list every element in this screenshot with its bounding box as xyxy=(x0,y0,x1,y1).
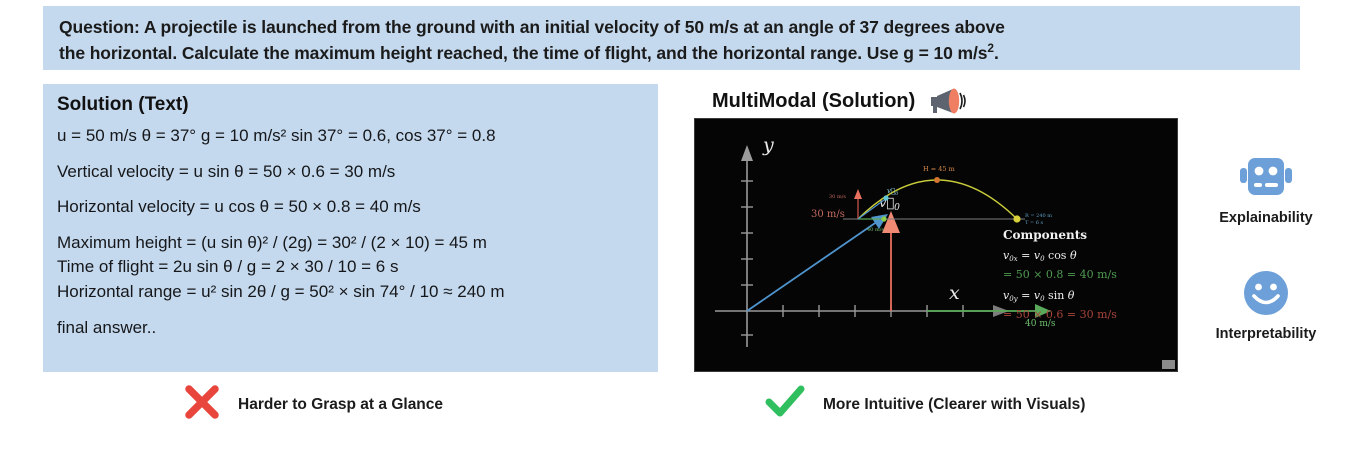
feature-interpretability: Interpretability xyxy=(1186,268,1346,342)
solution-line-horizontal-range: Horizontal range = u² sin 2θ / g = 50² ×… xyxy=(57,281,644,304)
components-vy-value: = 50 × 0.6 = 30 m/s xyxy=(1003,308,1117,321)
video-progress-handle[interactable] xyxy=(1162,360,1175,369)
speaker-megaphone-icon[interactable] xyxy=(929,86,967,116)
y-axis-label: y xyxy=(762,134,774,156)
cross-mark-icon xyxy=(182,382,222,427)
components-vy-expression: v0y = v0 sin θ xyxy=(1003,289,1075,303)
projectile-vector-diagram: y x 40 m/s 30 m/s v⃗0 H = 45 m xyxy=(695,119,1177,371)
components-vx-expression: v0x = v0 cos θ xyxy=(1003,249,1077,263)
question-line-2: the horizontal. Calculate the maximum he… xyxy=(59,43,987,63)
caption-text: More Intuitive (Clearer with Visuals) xyxy=(823,396,1085,414)
multimodal-video-panel[interactable]: y x 40 m/s 30 m/s v⃗0 H = 45 m xyxy=(694,118,1178,372)
vertical-component-label: 30 m/s xyxy=(811,209,845,220)
question-banner: Question: A projectile is launched from … xyxy=(43,6,1300,70)
smiley-face-icon xyxy=(1186,268,1346,318)
solution-line-time-of-flight: Time of flight = 2u sin θ / g = 2 × 30 /… xyxy=(57,256,644,279)
components-box-title: Components xyxy=(1003,228,1087,242)
multimodal-header: MultiModal (Solution) xyxy=(712,86,967,116)
trajectory-inset: H = 45 m R = 240 m T = 6 s 30 m/s 40 m/s… xyxy=(829,165,1052,233)
inset-apex-label: H = 45 m xyxy=(923,165,955,173)
feature-explainability: Explainability xyxy=(1186,152,1346,226)
solution-line-vertical-velocity: Vertical velocity = u sin θ = 50 × 0.6 =… xyxy=(57,161,644,184)
question-text: Question: A projectile is launched from … xyxy=(59,15,1284,67)
solution-line-maximum-height: Maximum height = (u sin θ)² / (2g) = 30²… xyxy=(57,232,644,255)
solution-line-horizontal-velocity: Horizontal velocity = u cos θ = 50 × 0.8… xyxy=(57,196,644,219)
feature-label: Explainability xyxy=(1186,210,1346,226)
question-line-1: Question: A projectile is launched from … xyxy=(59,17,1005,37)
inset-horizontal-component-label: 40 m/s xyxy=(867,227,884,233)
feature-label: Interpretability xyxy=(1186,326,1346,342)
multimodal-title: MultiModal (Solution) xyxy=(712,90,915,113)
x-axis-label: x xyxy=(949,282,960,304)
caption-more-intuitive: More Intuitive (Clearer with Visuals) xyxy=(763,382,1085,427)
solution-line-final-answer: final answer.. xyxy=(57,317,644,340)
inset-vertical-component-label: 30 m/s xyxy=(829,194,846,200)
components-vx-value: = 50 × 0.8 = 40 m/s xyxy=(1003,268,1117,281)
inset-landing-time-label: T = 6 s xyxy=(1025,220,1043,226)
robot-icon xyxy=(1186,152,1346,202)
caption-harder-to-grasp: Harder to Grasp at a Glance xyxy=(182,382,443,427)
check-mark-icon xyxy=(763,382,807,427)
caption-text: Harder to Grasp at a Glance xyxy=(238,396,443,414)
solution-line-givens: u = 50 m/s θ = 37° g = 10 m/s² sin 37° =… xyxy=(57,125,644,148)
solution-text-panel: Solution (Text) u = 50 m/s θ = 37° g = 1… xyxy=(43,84,658,372)
question-line-2-end: . xyxy=(994,43,999,63)
inset-landing-range-label: R = 240 m xyxy=(1025,213,1052,219)
components-box: Components v0x = v0 cos θ = 50 × 0.8 = 4… xyxy=(1003,228,1117,321)
solution-title: Solution (Text) xyxy=(57,94,644,116)
